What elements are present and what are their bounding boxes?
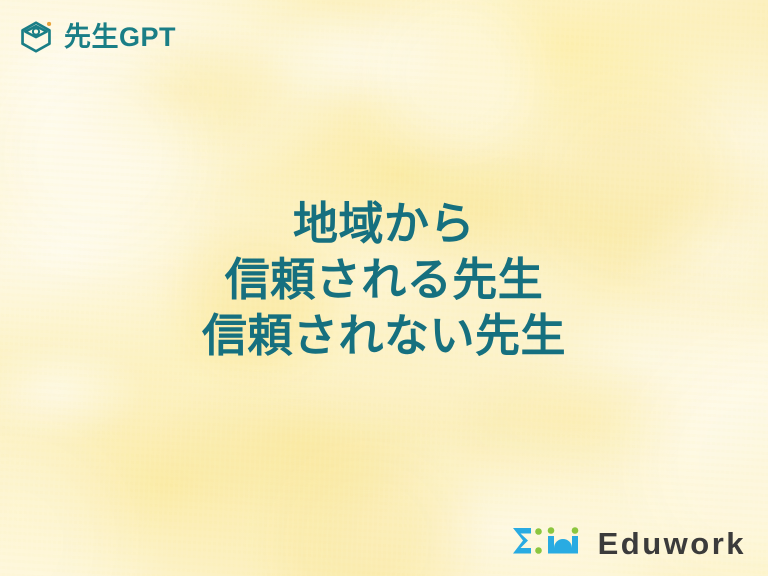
eduwork-logo[interactable]: Eduwork xyxy=(510,526,746,560)
headline-line-2: 信頼される先生 xyxy=(0,252,768,308)
headline-line-1: 地域から xyxy=(0,196,768,252)
graduation-cap-hexagon-icon xyxy=(17,18,55,56)
eduwork-e-w-mark-icon xyxy=(510,526,586,560)
page-title: 地域から 信頼される先生 信頼されない先生 xyxy=(0,196,768,364)
slide-canvas: 先生GPT 地域から 信頼される先生 信頼されない先生 Eduwork xyxy=(0,0,768,576)
brand-name-label: 先生GPT xyxy=(64,24,176,51)
headline-line-3: 信頼されない先生 xyxy=(0,308,768,364)
eduwork-name-label: Eduwork xyxy=(598,528,746,559)
brand-logo[interactable]: 先生GPT xyxy=(17,18,176,56)
